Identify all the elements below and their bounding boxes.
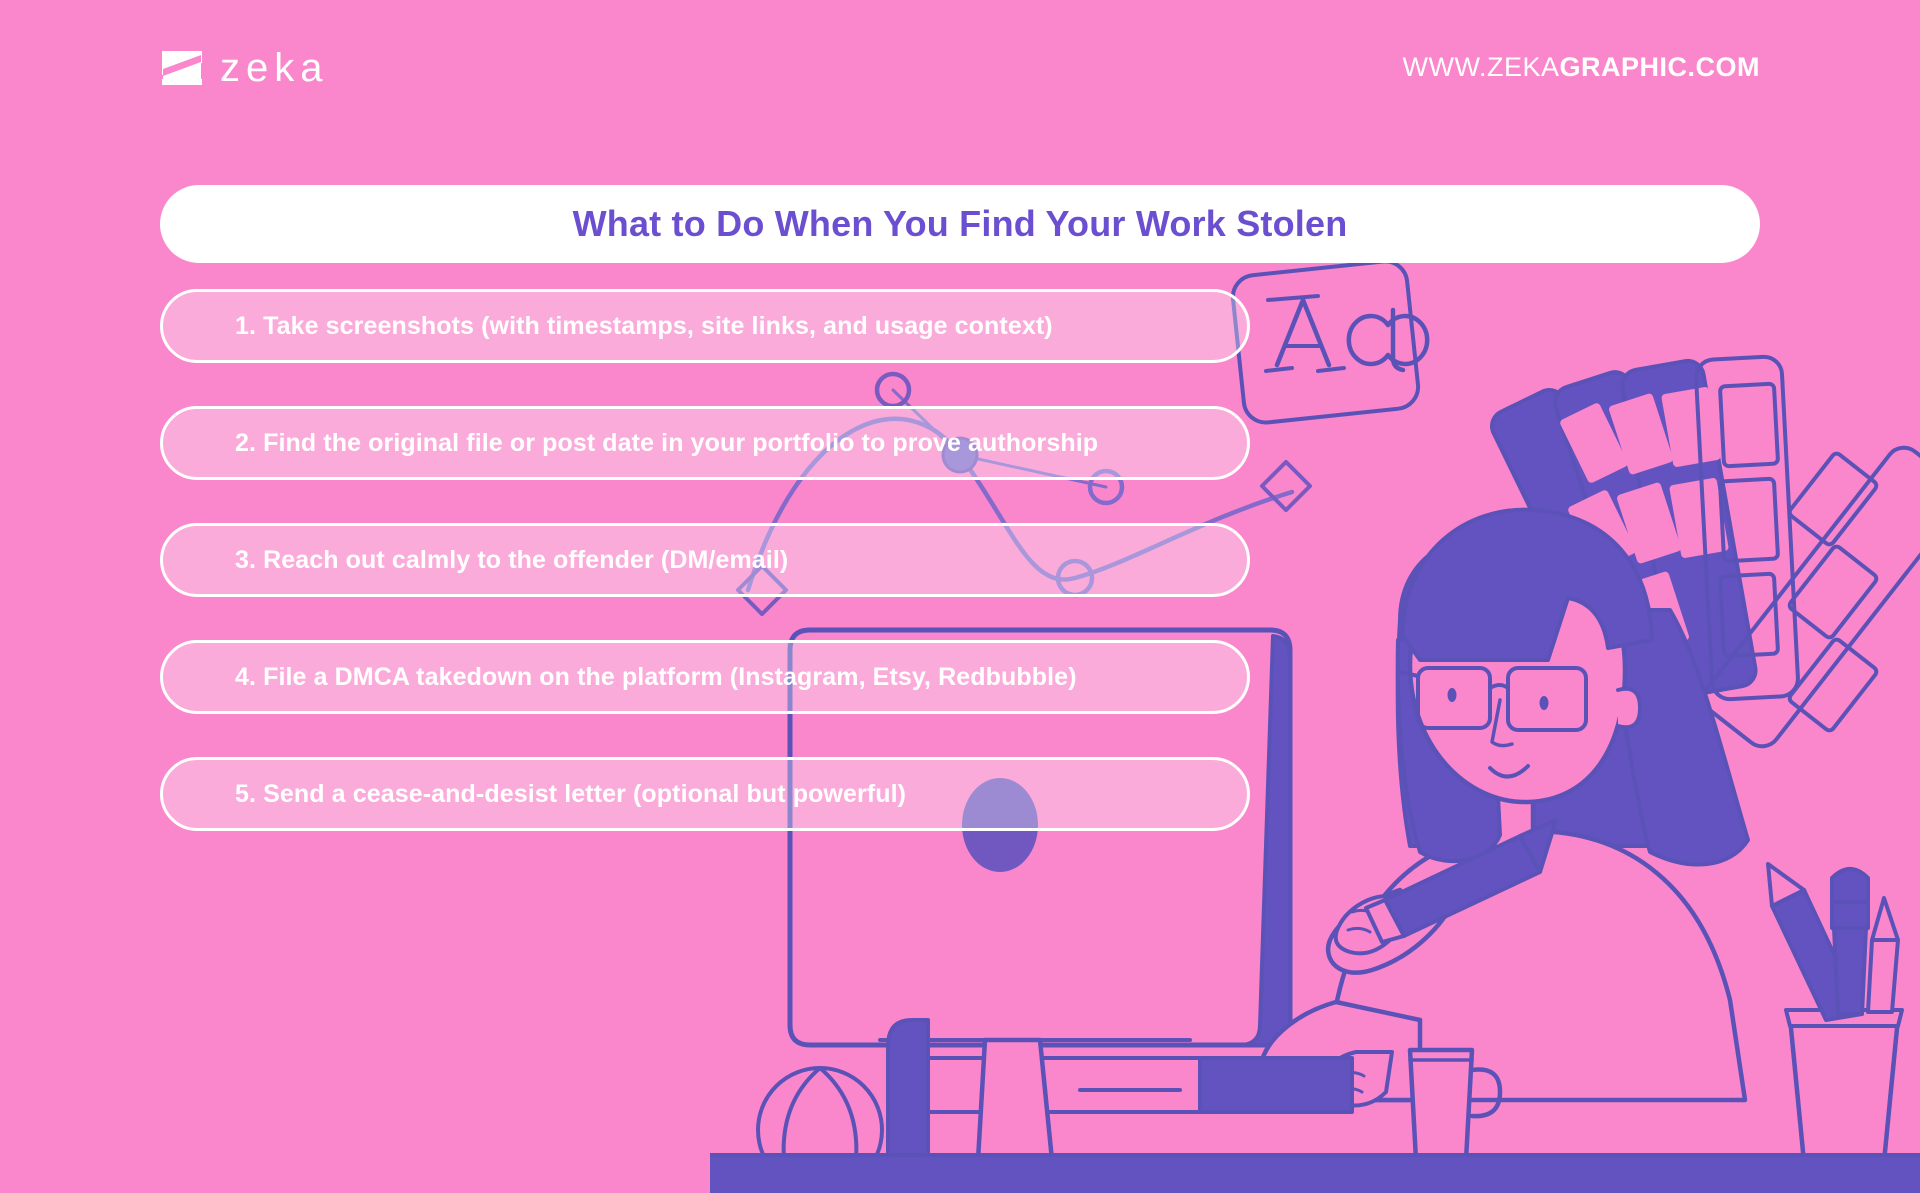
eye-icon [1540, 696, 1549, 710]
poster-canvas: zeka WWW.ZEKAGRAPHIC.COM What to Do When… [0, 0, 1920, 1193]
glasses-icon [1400, 668, 1586, 730]
list-item[interactable]: 5. Send a cease-and-desist letter (optio… [160, 757, 1250, 831]
eye-icon [1448, 688, 1457, 702]
list-item-label: 3. Reach out calmly to the offender (DM/… [163, 546, 788, 575]
brand-logo-text: zeka [220, 48, 329, 88]
zeka-square-mark-icon [160, 49, 204, 87]
monitor-stand-icon [888, 1020, 1052, 1160]
website-url[interactable]: WWW.ZEKAGRAPHIC.COM [1403, 52, 1760, 83]
list-item-label: 5. Send a cease-and-desist letter (optio… [163, 780, 906, 809]
poster-header: zeka WWW.ZEKAGRAPHIC.COM [0, 0, 1920, 120]
designer-character-icon [1262, 510, 1748, 1106]
pencil-icon [1366, 820, 1556, 942]
pantone-swatch-fan-icon [1487, 356, 1920, 754]
list-item-label: 4. File a DMCA takedown on the platform … [163, 663, 1077, 692]
steps-list: 1. Take screenshots (with timestamps, si… [160, 289, 1250, 831]
hand-icon [1336, 896, 1404, 953]
sphere-prop-icon [758, 1068, 882, 1192]
brand-logo[interactable]: zeka [160, 48, 329, 88]
website-url-light: WWW.ZEKA [1403, 52, 1560, 82]
list-item[interactable]: 4. File a DMCA takedown on the platform … [160, 640, 1250, 714]
typography-card-Aa-icon [1231, 259, 1427, 424]
list-item[interactable]: 2. Find the original file or post date i… [160, 406, 1250, 480]
list-item-label: 2. Find the original file or post date i… [163, 429, 1098, 458]
pencil-cup-icon [1768, 864, 1902, 1162]
coffee-mug-icon [1410, 1050, 1500, 1160]
list-item-label: 1. Take screenshots (with timestamps, si… [163, 312, 1053, 341]
list-item[interactable]: 3. Reach out calmly to the offender (DM/… [160, 523, 1250, 597]
title-banner: What to Do When You Find Your Work Stole… [160, 185, 1760, 263]
list-item[interactable]: 1. Take screenshots (with timestamps, si… [160, 289, 1250, 363]
mouth-icon [1490, 766, 1528, 777]
designer-character-icon [1398, 533, 1672, 846]
website-url-bold: GRAPHIC.COM [1560, 52, 1761, 82]
page-title: What to Do When You Find Your Work Stole… [573, 203, 1348, 245]
hand-icon [1323, 1052, 1392, 1106]
keyboard-icon [880, 1040, 1352, 1112]
desk-surface-icon [710, 1153, 1920, 1193]
nose-icon [1492, 700, 1512, 746]
